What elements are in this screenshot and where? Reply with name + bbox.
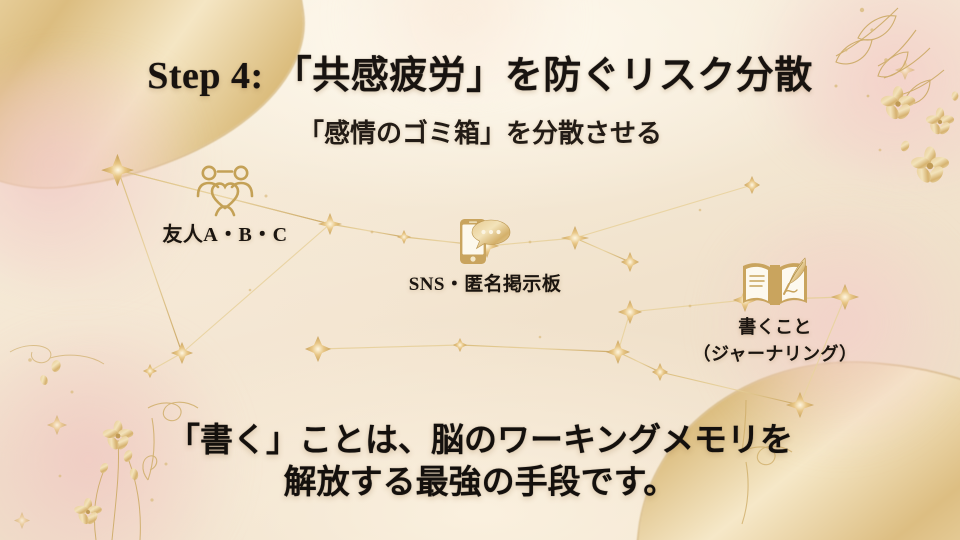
node-sns: SNS・匿名掲示板: [355, 215, 615, 296]
node-friends: 友人A・B・C: [100, 163, 350, 247]
conclusion-line-2: 解放する最強の手段です。: [0, 462, 960, 504]
page-subtitle: 「感情のゴミ箱」を分散させる: [0, 113, 960, 150]
page-title: Step 4: 「共感疲労」を防ぐリスク分散: [0, 44, 960, 99]
three-people-heart-icon: [194, 163, 256, 219]
conclusion-line-1: 「書く」ことは、脳のワーキングメモリを: [0, 420, 960, 462]
content-layer: Step 4: 「共感疲労」を防ぐリスク分散 「感情のゴミ箱」を分散させる 友人…: [0, 0, 960, 540]
node-write-label-line1: 書くこと: [650, 317, 900, 339]
slide-canvas: Step 4: 「共感疲労」を防ぐリスク分散 「感情のゴミ箱」を分散させる 友人…: [0, 0, 960, 540]
node-write-label-line2: （ジャーナリング）: [650, 344, 900, 366]
node-sns-label: SNS・匿名掲示板: [355, 273, 615, 296]
conclusion-text: 「書く」ことは、脳のワーキングメモリを 解放する最強の手段です。: [0, 420, 960, 504]
node-write: 書くこと （ジャーナリング）: [650, 256, 900, 366]
open-book-quill-icon: [737, 256, 813, 312]
smartphone-chat-bubble-icon: [448, 215, 522, 267]
node-friends-label: 友人A・B・C: [100, 223, 350, 247]
